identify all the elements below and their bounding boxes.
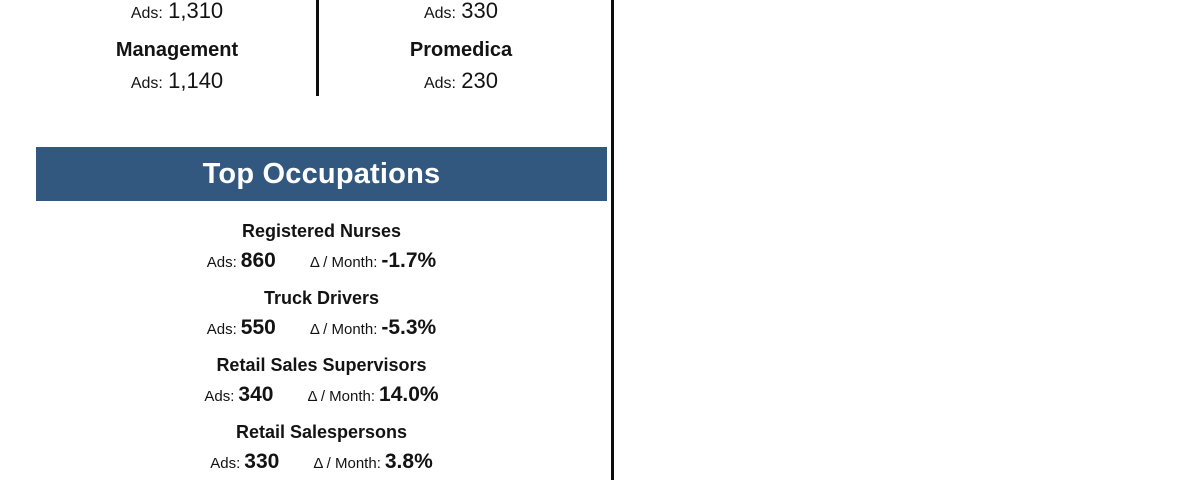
stat-partial-row: Ads: 1,310 (38, 0, 316, 22)
occupation-metrics: Ads:860 Δ / Month:-1.7% (36, 249, 607, 273)
ads-label: Ads: (210, 455, 240, 472)
occupation-metrics: Ads:330 Δ / Month:3.8% (36, 450, 607, 474)
section-header-top-occupations: Top Occupations (36, 147, 607, 201)
occupation-delta: Δ / Month:3.8% (313, 450, 432, 474)
ads-value: 860 (241, 249, 276, 272)
panel-divider (611, 0, 614, 480)
ads-label: Ads: (204, 388, 234, 405)
left-panel: Ads: 1,310 Management Ads: 1,140 Ads: 33… (0, 0, 612, 480)
stat-entry-row: Ads: 230 (322, 70, 600, 92)
ads-value: 330 (244, 450, 279, 473)
top-stat-column-industries: Ads: 1,310 Management Ads: 1,140 (38, 0, 316, 92)
ads-label: Ads: (424, 5, 456, 22)
occupation-row: Retail Sales Supervisors Ads:340 Δ / Mon… (36, 356, 607, 407)
occupation-metrics: Ads:550 Δ / Month:-5.3% (36, 316, 607, 340)
ads-value: 330 (461, 0, 498, 23)
ads-value: 1,310 (168, 0, 223, 23)
top-occupations-list: Registered Nurses Ads:860 Δ / Month:-1.7… (36, 222, 607, 490)
ads-value: 550 (241, 316, 276, 339)
delta-value: -1.7% (381, 249, 436, 272)
stat-entry-row: Ads: 1,140 (38, 70, 316, 92)
ads-label: Ads: (207, 321, 237, 338)
delta-label: Δ / Month: (310, 321, 378, 338)
ads-label: Ads: (207, 254, 237, 271)
occupation-row: Truck Drivers Ads:550 Δ / Month:-5.3% (36, 289, 607, 340)
occupation-ads: Ads:550 (207, 316, 276, 340)
occupation-ads: Ads:860 (207, 249, 276, 273)
occupation-row: Retail Salespersons Ads:330 Δ / Month:3.… (36, 423, 607, 474)
delta-label: Δ / Month: (310, 254, 378, 271)
stat-entry-name: Promedica (322, 40, 600, 60)
delta-label: Δ / Month: (307, 388, 375, 405)
top-stat-column-employers: Ads: 330 Promedica Ads: 230 (322, 0, 600, 92)
ads-value: 1,140 (168, 68, 223, 93)
right-panel: 20% Associate's Degree or Vocational Tra… (613, 0, 1200, 480)
top-columns-divider (316, 0, 319, 96)
delta-label: Δ / Month: (313, 455, 381, 472)
occupation-title: Truck Drivers (36, 289, 607, 307)
delta-value: 14.0% (379, 383, 439, 406)
stat-partial-row: Ads: 330 (322, 0, 600, 22)
ads-label: Ads: (131, 5, 163, 22)
ads-label: Ads: (131, 75, 163, 92)
occupation-ads: Ads:330 (210, 450, 279, 474)
ads-value: 340 (238, 383, 273, 406)
stat-entry-name: Management (38, 40, 316, 60)
delta-value: 3.8% (385, 450, 433, 473)
occupation-title: Retail Salespersons (36, 423, 607, 441)
occupation-title: Registered Nurses (36, 222, 607, 240)
occupation-ads: Ads:340 (204, 383, 273, 407)
occupation-delta: Δ / Month:-5.3% (310, 316, 436, 340)
ads-value: 230 (461, 68, 498, 93)
ads-label: Ads: (424, 75, 456, 92)
occupation-row: Registered Nurses Ads:860 Δ / Month:-1.7… (36, 222, 607, 273)
occupation-delta: Δ / Month:14.0% (307, 383, 438, 407)
occupation-metrics: Ads:340 Δ / Month:14.0% (36, 383, 607, 407)
occupation-title: Retail Sales Supervisors (36, 356, 607, 374)
delta-value: -5.3% (381, 316, 436, 339)
occupation-delta: Δ / Month:-1.7% (310, 249, 436, 273)
